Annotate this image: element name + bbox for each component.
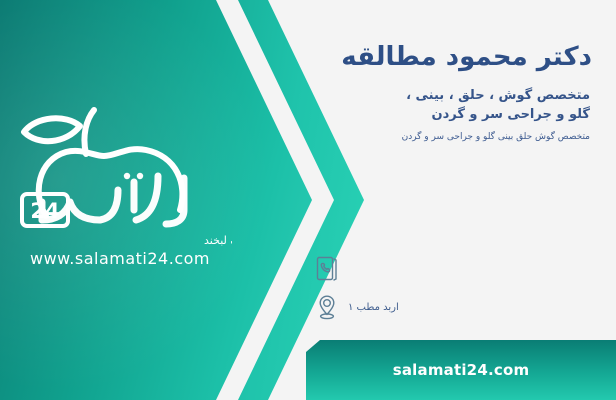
contact-row-address[interactable]: اربد مطب ۱ (314, 288, 594, 326)
specialty-subtitle: متخصص گوش حلق بینی گلو و جراحی سر و گردن (210, 131, 590, 144)
contact-row-phone[interactable] (314, 250, 594, 288)
footer-website: salamati24.com (393, 361, 530, 379)
specialty-block: متخصص گوش ، حلق ، بینی ، گلو و جراحی سر … (210, 86, 590, 124)
logo-website: www.salamati24.com (30, 249, 210, 268)
specialty-line-1: متخصص گوش ، حلق ، بینی ، (210, 86, 590, 105)
svg-text:24: 24 (30, 199, 59, 223)
contact-address-text: اربد مطب ۱ (348, 302, 399, 313)
specialty-line-2: گلو و جراحی سر و گردن (210, 105, 590, 124)
contact-block: اربد مطب ۱ (314, 250, 594, 326)
logo-tagline: به‌راحتی یک لبخند (204, 234, 232, 247)
logo-wordmark (42, 173, 184, 224)
logo-number-24: 24 (22, 194, 68, 226)
footer-bar[interactable]: salamati24.com (306, 340, 616, 400)
salamati24-logo: 24 به‌راحتی یک لبخند www.salamati24.com (8, 98, 232, 270)
business-card: 24 به‌راحتی یک لبخند www.salamati24.com … (0, 0, 616, 400)
page-title: دکتر محمود مطالقه (172, 42, 592, 72)
location-pin-icon (314, 292, 340, 322)
phone-book-icon (314, 254, 340, 284)
